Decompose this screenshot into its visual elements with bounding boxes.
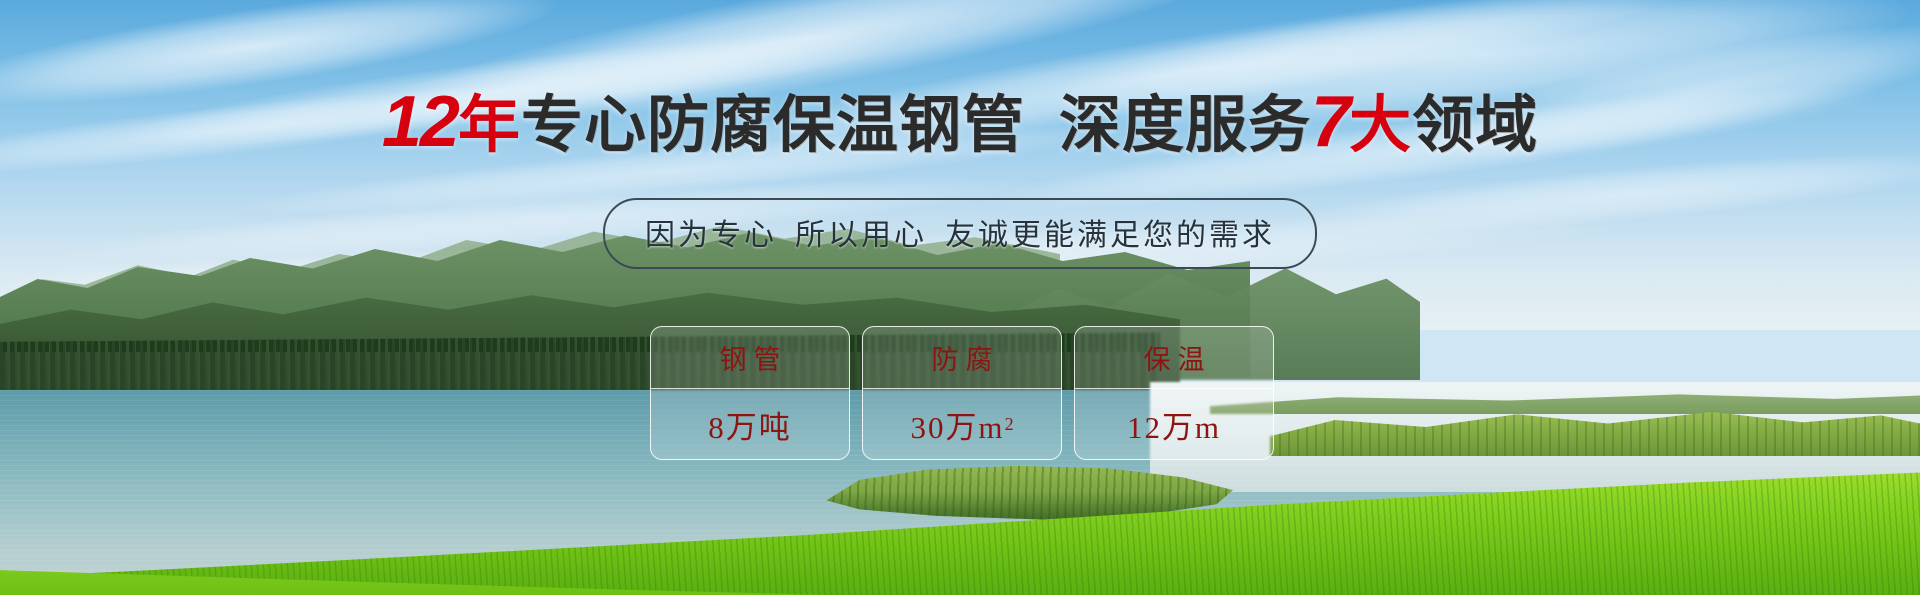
banner-subtitle-pill: 因为专心所以用心友诚更能满足您的需求 [603, 198, 1317, 269]
banner-subtitle-wrapper: 因为专心所以用心友诚更能满足您的需求 [0, 198, 1920, 269]
stat-value-text: 30万m [910, 402, 1004, 447]
stat-card-label: 钢管 [651, 327, 849, 389]
stat-card-anticorrosion: 防腐 30万m2 [862, 326, 1062, 460]
subtitle-part-1: 因为专心 [645, 219, 777, 252]
headline-years-number: 12 [382, 82, 458, 162]
headline-fields-unit: 大 [1349, 91, 1412, 160]
headline-years-unit: 年 [458, 91, 521, 160]
stat-value-text: 8万吨 [708, 402, 792, 447]
stats-card-group: 钢管 8万吨 防腐 30万m2 保温 12万m [650, 326, 1274, 460]
subtitle-part-2: 所以用心 [795, 219, 927, 252]
stat-card-label: 防腐 [863, 327, 1061, 389]
stat-value-text: 12万m [1127, 402, 1221, 447]
stat-card-value: 30万m2 [863, 389, 1061, 459]
headline-service-text: 深度服务 [1059, 91, 1311, 160]
headline-fields-number: 7 [1311, 82, 1349, 162]
stat-card-label: 保温 [1075, 327, 1273, 389]
stat-card-value: 12万m [1075, 389, 1273, 459]
banner-content: 12年专心防腐保温钢管深度服务7大领域 因为专心所以用心友诚更能满足您的需求 钢… [0, 0, 1920, 595]
stat-card-insulation: 保温 12万m [1074, 326, 1274, 460]
subtitle-part-3: 友诚更能满足您的需求 [945, 219, 1275, 252]
banner-headline: 12年专心防腐保温钢管深度服务7大领域 [0, 86, 1920, 158]
headline-main-text: 专心防腐保温钢管 [521, 91, 1025, 160]
stat-card-value: 8万吨 [651, 389, 849, 459]
hero-banner: 12年专心防腐保温钢管深度服务7大领域 因为专心所以用心友诚更能满足您的需求 钢… [0, 0, 1920, 595]
stat-value-superscript: 2 [1005, 414, 1014, 435]
stat-card-steel-pipe: 钢管 8万吨 [650, 326, 850, 460]
headline-fields-text: 领域 [1412, 91, 1538, 160]
